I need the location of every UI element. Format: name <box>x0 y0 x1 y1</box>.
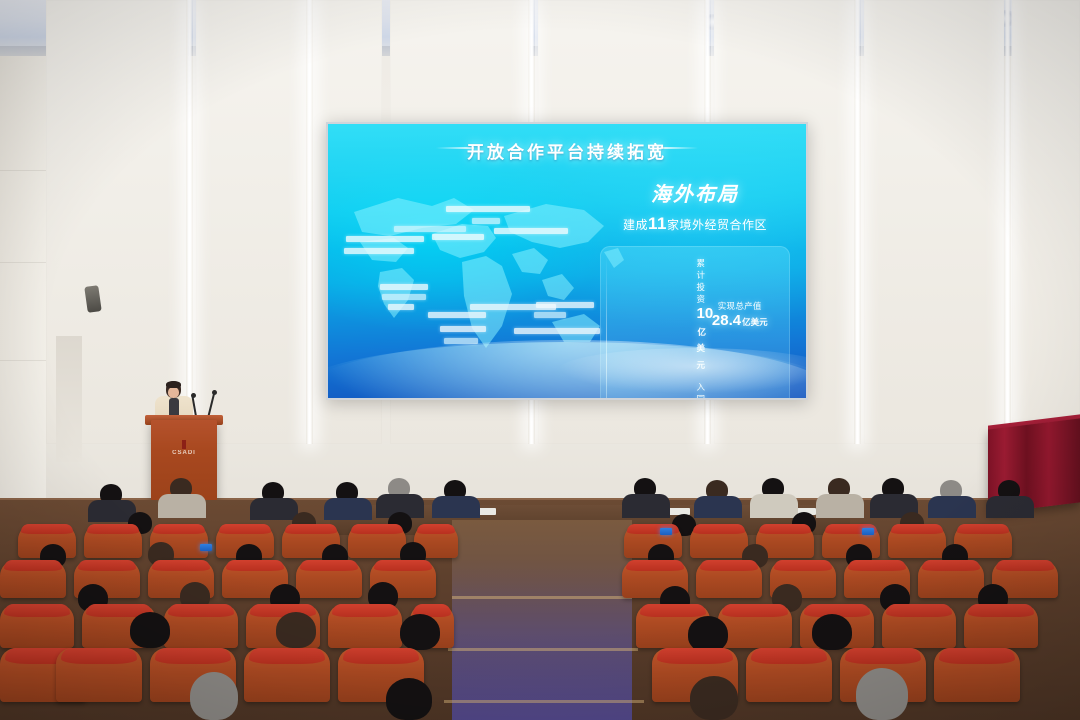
map-label-chip <box>446 206 530 212</box>
subtitle-prefix: 建成 <box>623 218 648 232</box>
stat-number: 28.4 <box>712 312 741 329</box>
auditorium-seat <box>56 648 142 702</box>
attendee-head <box>812 614 852 650</box>
slide-title: 开放合作平台持续拓宽 <box>328 138 806 163</box>
map-label-chip <box>440 326 486 332</box>
subtitle-number: 11 <box>648 214 667 233</box>
map-label-chip <box>388 304 414 310</box>
map-label-chip <box>394 226 466 232</box>
attendee-head <box>690 676 738 720</box>
auditorium-seat <box>696 560 762 598</box>
auditorium-seat <box>690 524 748 558</box>
attendee-body <box>928 496 976 518</box>
subtitle-suffix: 家境外经贸合作区 <box>667 218 767 232</box>
presentation-screen: 开放合作平台持续拓宽 <box>328 124 806 398</box>
attendee-body <box>432 496 480 518</box>
wall-panel <box>864 0 1004 444</box>
auditorium-seat <box>0 560 66 598</box>
stat-unit: 亿美元 <box>742 317 768 327</box>
attendee-head <box>856 668 908 720</box>
map-label-chip <box>380 284 428 290</box>
attendee-body <box>750 494 798 518</box>
section-subtitle: 建成11家境外经贸合作区 <box>600 214 790 234</box>
auditorium-seat <box>718 604 792 648</box>
auditorium-seat <box>348 524 406 558</box>
wall-left-column <box>0 56 46 500</box>
wall-panel <box>1012 0 1080 444</box>
stat-cell: 实现总产值 28.4亿美元 <box>696 299 785 331</box>
wall-seam <box>0 262 46 263</box>
auditorium-seat <box>84 524 142 558</box>
microphone-head-icon <box>191 393 196 398</box>
map-label-chip <box>346 236 424 242</box>
auditorium-seat <box>328 604 402 648</box>
wall-seam <box>0 360 46 361</box>
map-label-chip <box>534 312 566 318</box>
aisle-step-edge <box>448 648 638 651</box>
speaker-face <box>168 387 179 398</box>
auditorium-seat <box>296 560 362 598</box>
stat-label: 实现总产值 <box>698 300 783 312</box>
smartphone-screen <box>862 528 874 535</box>
auditorium-seat <box>888 524 946 558</box>
map-label-chip <box>382 294 426 300</box>
aisle-step-edge <box>452 596 632 599</box>
wall-light-strip <box>854 0 861 444</box>
attendee-body <box>158 494 206 518</box>
smartphone-screen <box>660 528 672 535</box>
wall-light-strip <box>186 0 193 444</box>
auditorium-seat <box>746 648 832 702</box>
aisle-step-edge <box>444 700 644 703</box>
map-label-chip <box>344 248 414 254</box>
podium-emblem-icon <box>182 440 186 449</box>
map-label-chip <box>494 228 568 234</box>
podium-logo-text: CSADI <box>151 450 217 456</box>
attendee-body <box>694 496 742 518</box>
attendee-body <box>622 494 670 518</box>
auditorium-seat <box>244 648 330 702</box>
attendee-head <box>400 614 440 650</box>
attendee-body <box>816 494 864 518</box>
auditorium-seat <box>882 604 956 648</box>
attendee-body <box>250 498 298 520</box>
attendee-head <box>688 616 728 652</box>
aisle-light-reflection <box>452 560 632 720</box>
speaker-hair <box>166 381 181 388</box>
attendee-body <box>986 496 1034 518</box>
attendee-body <box>324 498 372 520</box>
attendee-head <box>190 672 238 720</box>
microphone-head-icon <box>212 390 217 395</box>
attendee-head <box>386 678 432 720</box>
stat-value: 28.4亿美元 <box>698 313 783 330</box>
map-label-chip <box>514 328 600 334</box>
map-label-chip <box>432 234 484 240</box>
auditorium-seat <box>164 604 238 648</box>
auditorium-seat <box>0 604 74 648</box>
section-heading: 海外布局 <box>600 178 790 207</box>
map-label-chip <box>536 302 594 308</box>
wall-recess <box>56 336 82 462</box>
auditorium-seat <box>934 648 1020 702</box>
wall-light-strip <box>1004 0 1011 444</box>
map-label-chip <box>428 312 486 318</box>
map-label-chip <box>472 218 500 224</box>
smartphone-screen <box>200 544 212 551</box>
auditorium-seat <box>918 560 984 598</box>
wall-light-strip <box>306 0 313 444</box>
wall-seam <box>0 170 46 171</box>
attendee-head <box>276 612 316 648</box>
conference-hall-photo: 开放合作平台持续拓宽 <box>0 0 1080 720</box>
auditorium-seat <box>964 604 1038 648</box>
attendee-head <box>130 612 170 648</box>
led-screen-frame: 开放合作平台持续拓宽 <box>326 122 808 400</box>
